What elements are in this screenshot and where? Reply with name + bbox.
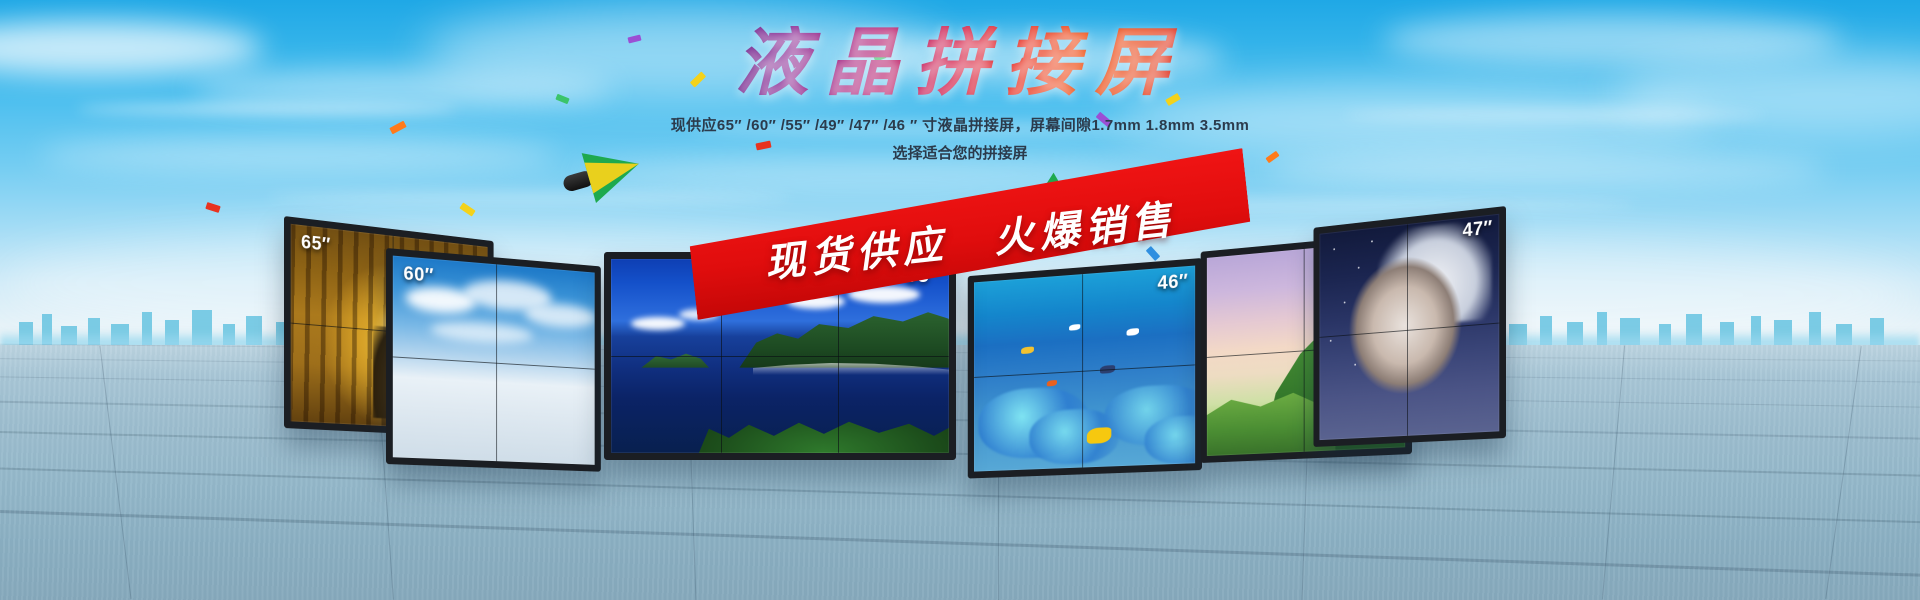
screen-60[interactable]: 60″	[386, 248, 601, 472]
size-label-47: 47″	[1463, 217, 1493, 242]
subtitle-line-1: 现供应65″ /60″ /55″ /49″ /47″ /46 ″ 寸液晶拼接屏，…	[0, 114, 1920, 135]
ribbon-right-text: 火爆销售	[990, 187, 1179, 265]
page-title: 液晶拼接屏	[727, 26, 1193, 100]
subtitle-line-2: 选择适合您的拼接屏	[0, 142, 1920, 163]
size-label-46: 46″	[1157, 271, 1188, 295]
size-label-65: 65″	[301, 232, 331, 257]
title-block: 液晶拼接屏 现供应65″ /60″ /55″ /49″ /47″ /46 ″ 寸…	[0, 26, 1920, 163]
size-label-60: 60″	[403, 263, 433, 287]
lcd-video-wall-banner: 液晶拼接屏 现供应65″ /60″ /55″ /49″ /47″ /46 ″ 寸…	[0, 0, 1920, 600]
ribbon-left-text: 现货供应	[762, 212, 951, 290]
screen-46[interactable]: 46″	[968, 258, 1202, 479]
screen-47[interactable]: 47″	[1313, 206, 1506, 447]
